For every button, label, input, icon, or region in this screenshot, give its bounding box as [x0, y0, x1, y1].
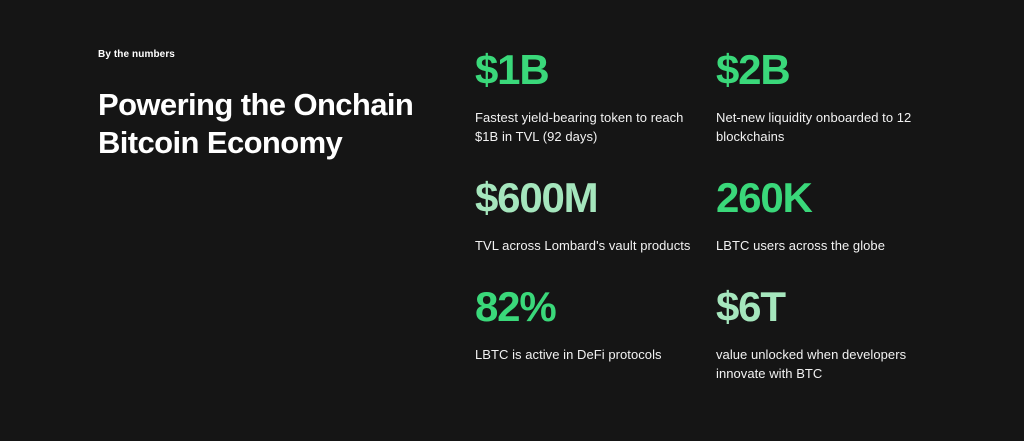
stat-item: $600M TVL across Lombard's vault product…: [475, 174, 700, 255]
stat-value: $2B: [716, 46, 941, 94]
stat-description: LBTC is active in DeFi protocols: [475, 345, 700, 364]
stat-description: Fastest yield-bearing token to reach $1B…: [475, 108, 700, 146]
page-title: Powering the Onchain Bitcoin Economy: [98, 86, 453, 162]
stat-description: LBTC users across the globe: [716, 236, 941, 255]
intro-column: By the numbers Powering the Onchain Bitc…: [98, 48, 453, 162]
stat-value: $1B: [475, 46, 700, 94]
stat-item: 260K LBTC users across the globe: [716, 174, 941, 255]
stat-item: $2B Net-new liquidity onboarded to 12 bl…: [716, 46, 941, 146]
stat-value: $600M: [475, 174, 700, 222]
eyebrow-label: By the numbers: [98, 48, 453, 62]
by-the-numbers-section: By the numbers Powering the Onchain Bitc…: [0, 0, 1024, 441]
stat-item: $6T value unlocked when developers innov…: [716, 283, 941, 383]
stat-item: $1B Fastest yield-bearing token to reach…: [475, 46, 700, 146]
stat-value: 82%: [475, 283, 700, 331]
stat-description: value unlocked when developers innovate …: [716, 345, 941, 383]
stat-value: $6T: [716, 283, 941, 331]
stats-grid: $1B Fastest yield-bearing token to reach…: [475, 46, 965, 383]
stat-description: Net-new liquidity onboarded to 12 blockc…: [716, 108, 941, 146]
stat-value: 260K: [716, 174, 941, 222]
stat-description: TVL across Lombard's vault products: [475, 236, 700, 255]
stat-item: 82% LBTC is active in DeFi protocols: [475, 283, 700, 383]
